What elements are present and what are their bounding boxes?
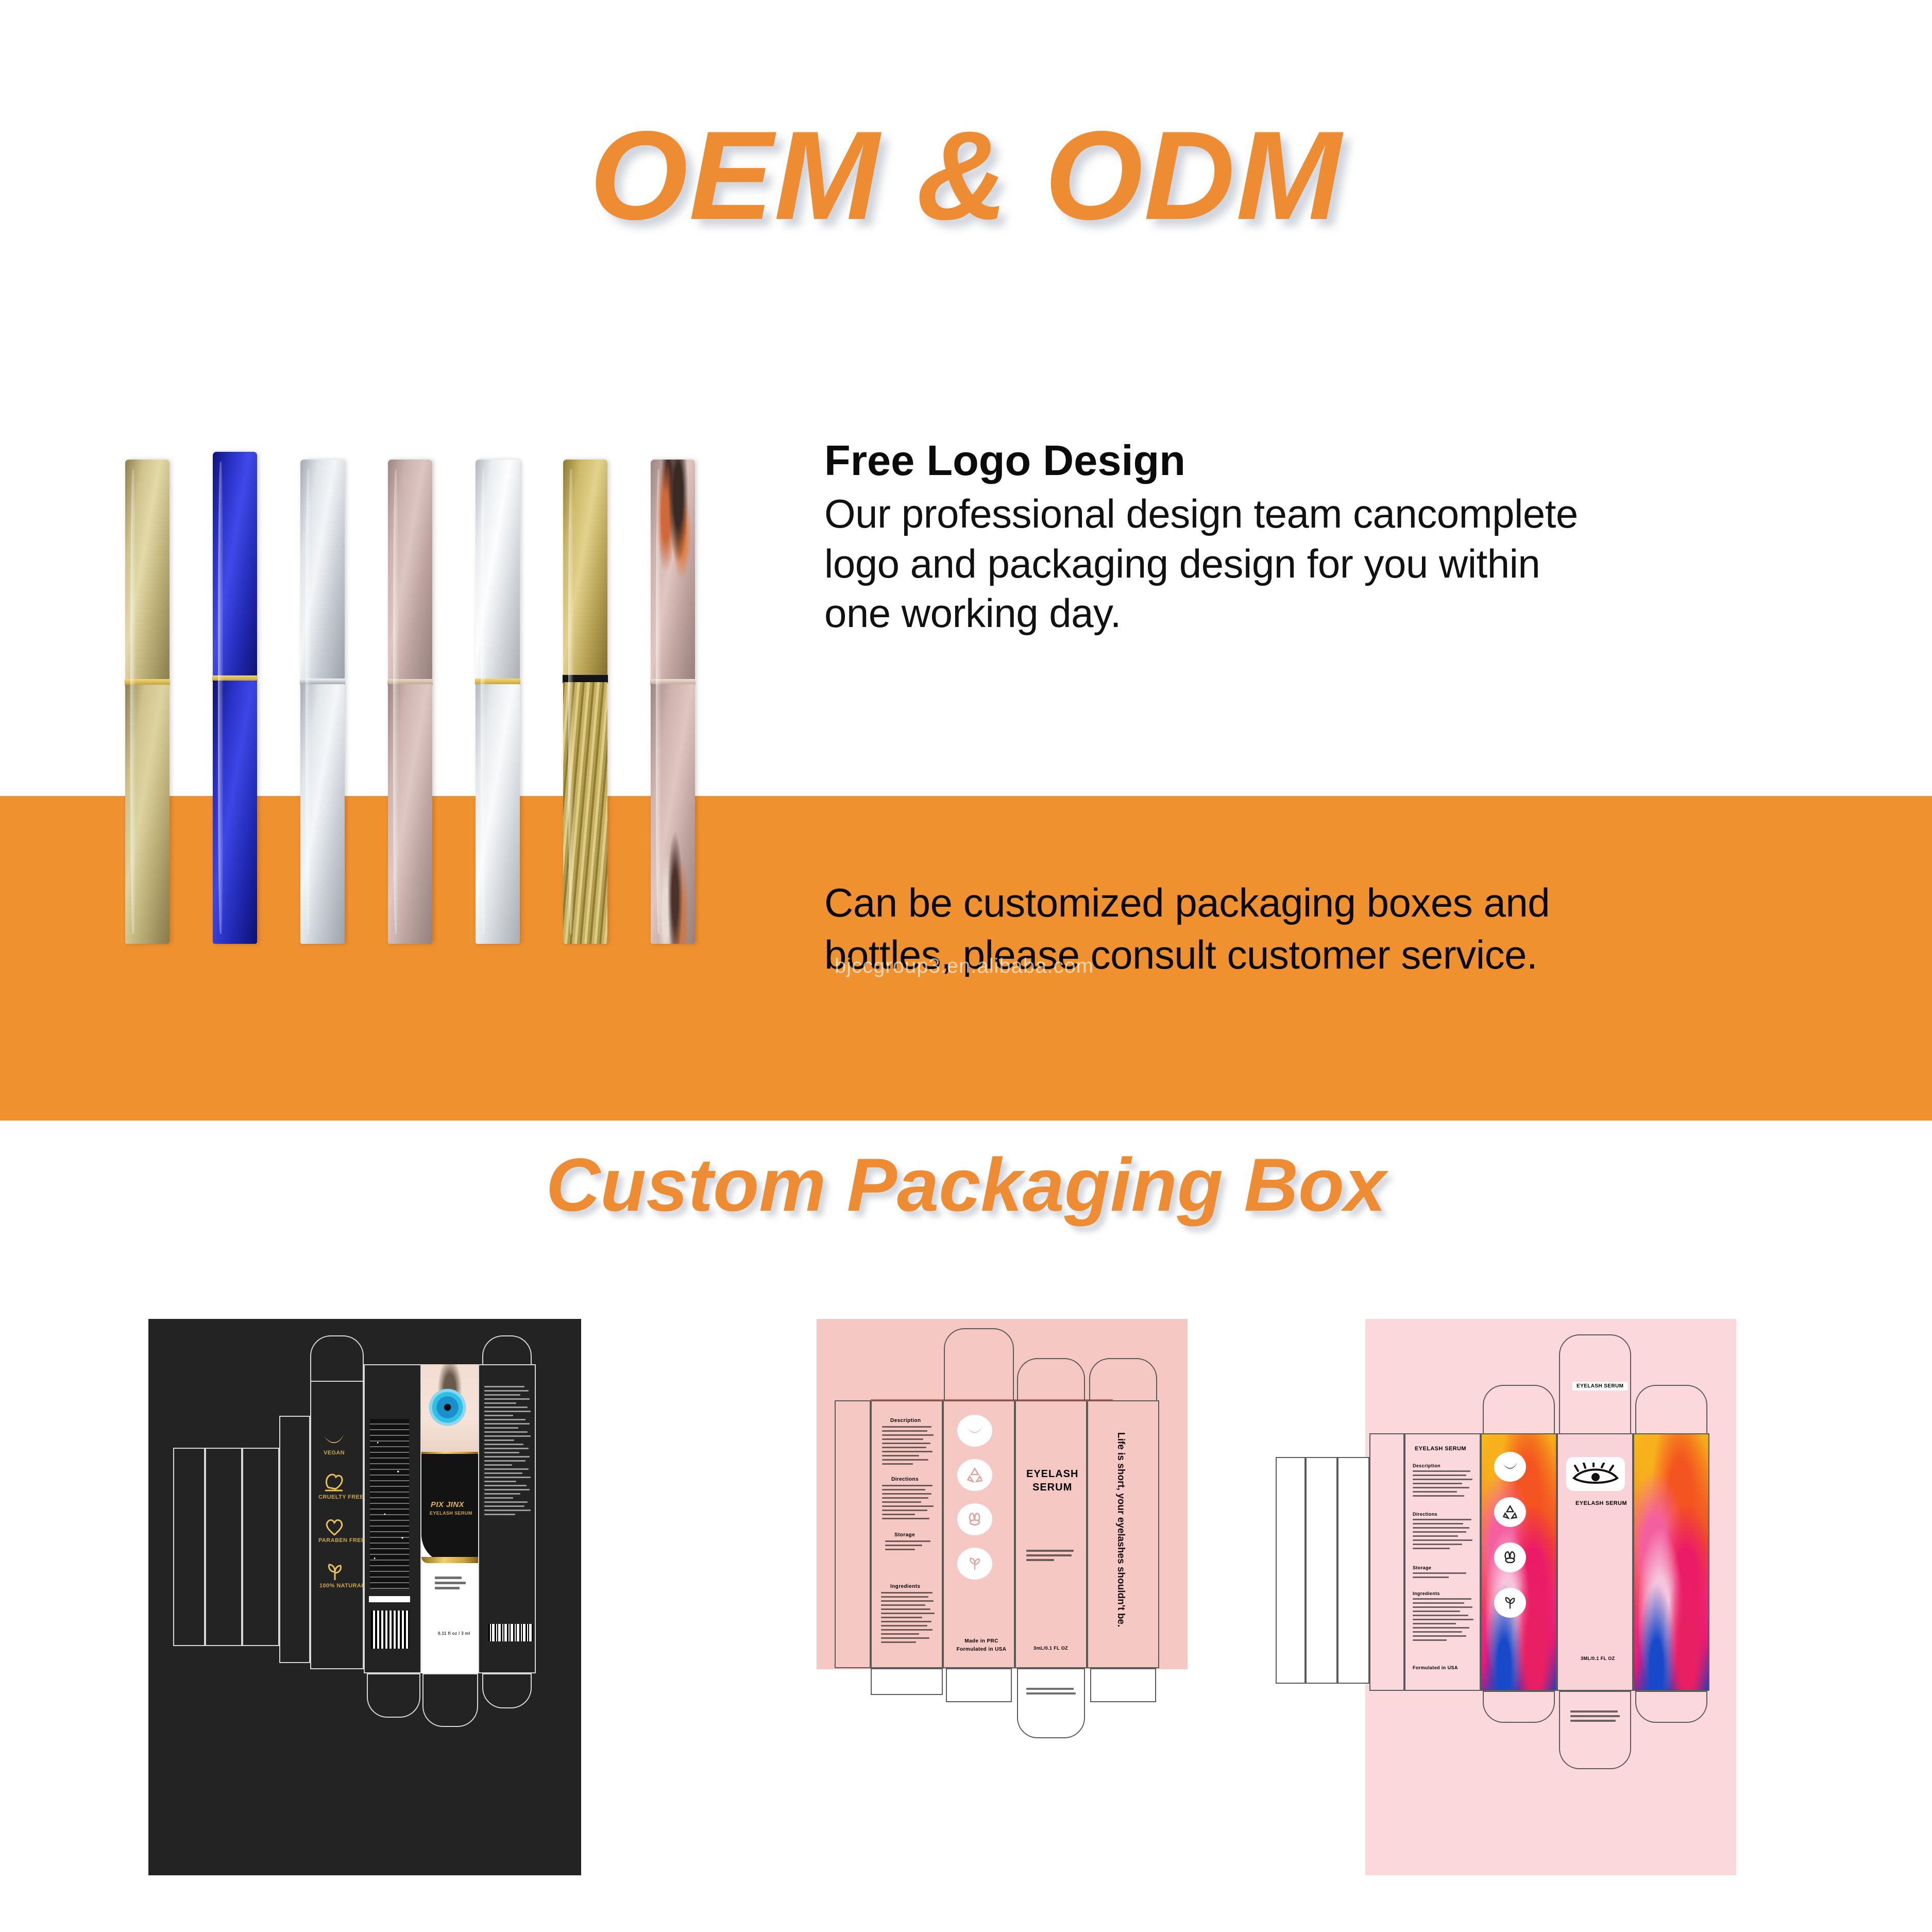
packaging-box-black[interactable]: VEGAN CRUELTY FREE PARABEN FREE 100% NAT… bbox=[148, 1319, 581, 1891]
paraben-free-icon bbox=[323, 1517, 346, 1538]
divider-bar bbox=[369, 1596, 410, 1602]
section-heading-ingredients: Ingredients bbox=[890, 1584, 920, 1589]
cruelty-free-icon-glyph bbox=[321, 1472, 347, 1494]
net-weight: 3mL/0.1 FL OZ bbox=[1033, 1646, 1068, 1651]
bottom-flap bbox=[1635, 1691, 1707, 1723]
bottom-tuck bbox=[871, 1668, 943, 1695]
brand-subtitle: EYELASH SERUM bbox=[430, 1511, 472, 1516]
vegan-icon-glyph bbox=[323, 1433, 345, 1448]
mascara-tube-printed-rose-gold bbox=[651, 460, 695, 944]
side-panel bbox=[279, 1416, 310, 1663]
tube-cap bbox=[300, 460, 345, 680]
eye-photo bbox=[421, 1364, 478, 1462]
bottom-flap-text bbox=[1570, 1710, 1622, 1724]
origin-text-2: Formulated in USA bbox=[949, 1647, 1014, 1652]
eye-lashes-icon-glyph bbox=[1571, 1463, 1620, 1485]
tube-cap bbox=[388, 460, 432, 680]
bottom-tuck bbox=[946, 1668, 1012, 1702]
section-heading-storage: Storage bbox=[1413, 1565, 1431, 1570]
badge-label-vegan: VEGAN bbox=[324, 1450, 345, 1456]
mascara-tube-blue bbox=[213, 452, 257, 944]
product-title-2: SERUM bbox=[1032, 1482, 1072, 1494]
vegan-icon bbox=[957, 1415, 992, 1447]
eye-lashes-graphic bbox=[1566, 1457, 1625, 1491]
section-heading-description: Description bbox=[890, 1418, 921, 1423]
natural-icon-glyph bbox=[324, 1562, 346, 1582]
top-flap bbox=[1089, 1358, 1157, 1401]
tube-body bbox=[125, 685, 170, 944]
tagline: Life is short, your eyelashes shouldn't … bbox=[1115, 1432, 1126, 1627]
natural-icon bbox=[324, 1561, 346, 1583]
natural-icon-glyph bbox=[1502, 1595, 1518, 1611]
natural-icon bbox=[957, 1548, 992, 1580]
storage-text bbox=[1413, 1572, 1469, 1587]
side-panel bbox=[1306, 1457, 1337, 1684]
bottom-flap bbox=[1559, 1691, 1631, 1769]
section-heading-description: Description bbox=[1413, 1463, 1440, 1468]
top-flap bbox=[944, 1328, 1014, 1401]
cruelty-free-icon-glyph bbox=[1501, 1550, 1519, 1565]
tube-cap bbox=[476, 460, 520, 680]
page-title: OEM & ODM bbox=[0, 112, 1932, 239]
cruelty-free-icon bbox=[320, 1471, 347, 1494]
description-text bbox=[882, 1426, 935, 1471]
section-heading-storage: Storage bbox=[894, 1532, 915, 1538]
bottom-flap-text bbox=[1026, 1688, 1078, 1701]
free-logo-design-block: Free Logo Design Our professional design… bbox=[824, 437, 1613, 638]
packaging-box-colorful[interactable]: EYELASH SERUM Description Directions Sto… bbox=[1273, 1319, 1736, 1880]
natural-icon-glyph bbox=[967, 1555, 983, 1572]
ingredients-text bbox=[881, 1592, 936, 1654]
packaging-box-pink[interactable]: Description Directions Storage Ingredien… bbox=[793, 1319, 1221, 1901]
section-heading-directions: Directions bbox=[1413, 1512, 1437, 1517]
badge-label-natural: 100% NATURAL bbox=[319, 1583, 365, 1589]
top-flap bbox=[1483, 1385, 1555, 1434]
natural-icon bbox=[1494, 1588, 1526, 1618]
vegan-icon-glyph bbox=[965, 1425, 985, 1437]
bottom-flap bbox=[422, 1673, 478, 1727]
side-panel bbox=[205, 1448, 242, 1646]
tube-body bbox=[476, 684, 520, 944]
tube-cap bbox=[213, 452, 257, 676]
paraben-free-icon-glyph bbox=[323, 1517, 346, 1538]
packaging-box-gallery: VEGAN CRUELTY FREE PARABEN FREE 100% NAT… bbox=[0, 1319, 1932, 1901]
product-title: EYELASH SERUM bbox=[1575, 1500, 1627, 1506]
product-title-small: EYELASH SERUM bbox=[1415, 1446, 1466, 1452]
glue-flap bbox=[173, 1448, 205, 1646]
front-bullets bbox=[435, 1577, 472, 1605]
glue-flap bbox=[1276, 1457, 1306, 1684]
info-text-block bbox=[484, 1386, 532, 1607]
tube-body bbox=[388, 684, 432, 944]
bottom-flap bbox=[1017, 1668, 1085, 1738]
description-text bbox=[1413, 1470, 1473, 1506]
free-logo-body: Our professional design team cancomplete… bbox=[824, 489, 1613, 638]
top-flap bbox=[310, 1335, 364, 1382]
mascara-tube-white bbox=[476, 460, 520, 944]
tube-cap bbox=[563, 460, 607, 676]
brand-name: PIX JINX bbox=[431, 1500, 464, 1509]
section-heading-ingredients: Ingredients bbox=[1413, 1591, 1440, 1596]
net-weight: 3ML/0.1 FL OZ bbox=[1581, 1656, 1615, 1661]
vegan-icon-glyph bbox=[1501, 1461, 1519, 1472]
mascara-tube-silver bbox=[300, 460, 345, 944]
watermark: bjccgroup3.en.alibaba.com bbox=[835, 955, 1094, 978]
recycle-icon bbox=[1494, 1497, 1526, 1527]
cruelty-free-icon bbox=[957, 1503, 992, 1535]
top-flap bbox=[482, 1335, 532, 1365]
abstract-paint-artwork-right bbox=[1634, 1434, 1708, 1690]
gold-swoosh-bottom bbox=[421, 1557, 478, 1563]
top-flap-title: EYELASH SERUM bbox=[1572, 1382, 1628, 1391]
vegan-icon bbox=[1494, 1452, 1526, 1482]
bottom-flap bbox=[482, 1673, 532, 1708]
tube-body bbox=[213, 681, 257, 944]
tube-body bbox=[651, 684, 695, 944]
qr-code[interactable] bbox=[371, 1611, 409, 1649]
cruelty-free-icon bbox=[1494, 1543, 1526, 1572]
top-flap bbox=[1635, 1385, 1707, 1434]
recycle-icon bbox=[957, 1459, 992, 1491]
directions-text bbox=[882, 1485, 935, 1527]
mascara-tube-brushed-gold bbox=[563, 460, 607, 944]
recycle-icon-glyph bbox=[1502, 1504, 1518, 1520]
mascara-tube-gold bbox=[125, 460, 170, 944]
mascara-tube-lineup bbox=[125, 444, 759, 944]
tube-cap bbox=[125, 460, 170, 680]
panel-front-face bbox=[1015, 1400, 1087, 1668]
side-panel bbox=[242, 1448, 279, 1646]
origin-text: Made in PRC bbox=[953, 1638, 1010, 1644]
badge-label-cruelty-free: CRUELTY FREE bbox=[318, 1494, 364, 1500]
glitter-artwork bbox=[370, 1419, 409, 1589]
bottom-flap bbox=[367, 1673, 420, 1718]
product-title: EYELASH bbox=[1026, 1468, 1078, 1480]
cruelty-free-icon-glyph bbox=[965, 1511, 984, 1528]
free-logo-heading: Free Logo Design bbox=[824, 437, 1613, 485]
section-heading-directions: Directions bbox=[891, 1477, 919, 1482]
bottom-tuck bbox=[1090, 1668, 1156, 1702]
tube-body bbox=[300, 684, 345, 944]
directions-text bbox=[1413, 1519, 1473, 1560]
vegan-icon bbox=[321, 1430, 346, 1451]
net-weight: 0.11 fl oz / 3 ml bbox=[438, 1631, 470, 1636]
bottom-flap bbox=[1483, 1691, 1555, 1723]
origin-text: Formulated in USA bbox=[1413, 1665, 1458, 1670]
top-flap bbox=[1017, 1358, 1085, 1401]
badge-label-paraben-free: PARABEN FREE bbox=[318, 1537, 365, 1544]
tube-cap bbox=[651, 460, 695, 680]
side-panel bbox=[1337, 1457, 1369, 1684]
glue-flap bbox=[835, 1400, 871, 1668]
barcode bbox=[488, 1624, 533, 1641]
side-panel bbox=[1369, 1433, 1404, 1691]
recycle-icon-glyph bbox=[966, 1467, 984, 1483]
front-subcopy bbox=[1026, 1550, 1078, 1570]
tube-body bbox=[563, 682, 607, 944]
ingredients-text bbox=[1413, 1598, 1473, 1655]
mascara-tube-rose-pink bbox=[388, 460, 432, 944]
section-title-custom-packaging: Custom Packaging Box bbox=[0, 1142, 1932, 1228]
storage-text bbox=[885, 1540, 933, 1559]
